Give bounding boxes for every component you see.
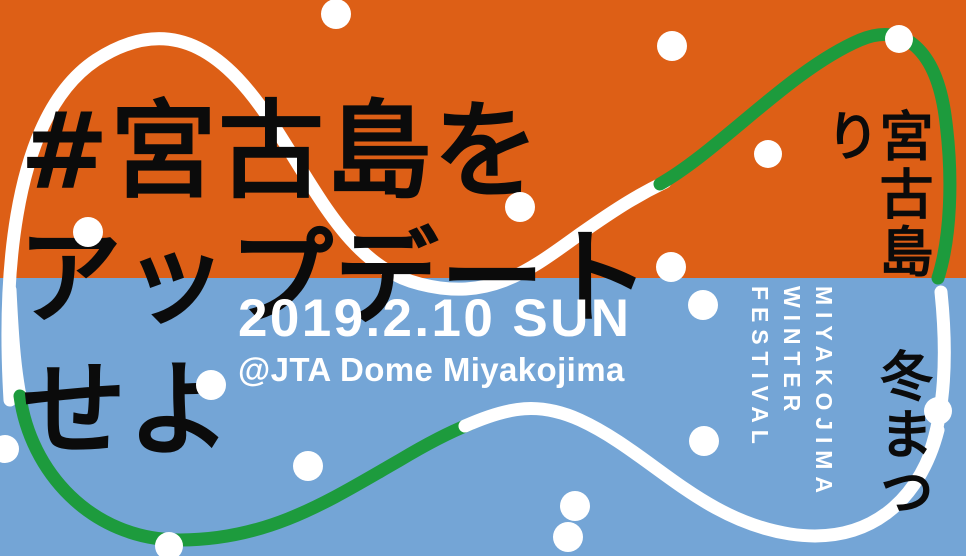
decorative-dot xyxy=(196,370,226,400)
decorative-dot-layer xyxy=(0,0,966,556)
decorative-dot xyxy=(73,217,103,247)
decorative-dot xyxy=(505,192,535,222)
decorative-dot xyxy=(688,290,718,320)
decorative-dot xyxy=(885,25,913,53)
decorative-dot xyxy=(656,252,686,282)
decorative-dot xyxy=(553,522,583,552)
decorative-dot xyxy=(0,435,19,463)
decorative-dot xyxy=(657,31,687,61)
decorative-dot xyxy=(560,491,590,521)
decorative-dot xyxy=(754,140,782,168)
decorative-dot xyxy=(924,397,952,425)
decorative-dot xyxy=(155,532,183,556)
decorative-dot xyxy=(293,451,323,481)
decorative-dot xyxy=(689,426,719,456)
decorative-dot xyxy=(321,0,351,29)
poster-canvas: #宮古島を アップデート せよ 2019.2.10 SUN @JTA Dome … xyxy=(0,0,966,556)
